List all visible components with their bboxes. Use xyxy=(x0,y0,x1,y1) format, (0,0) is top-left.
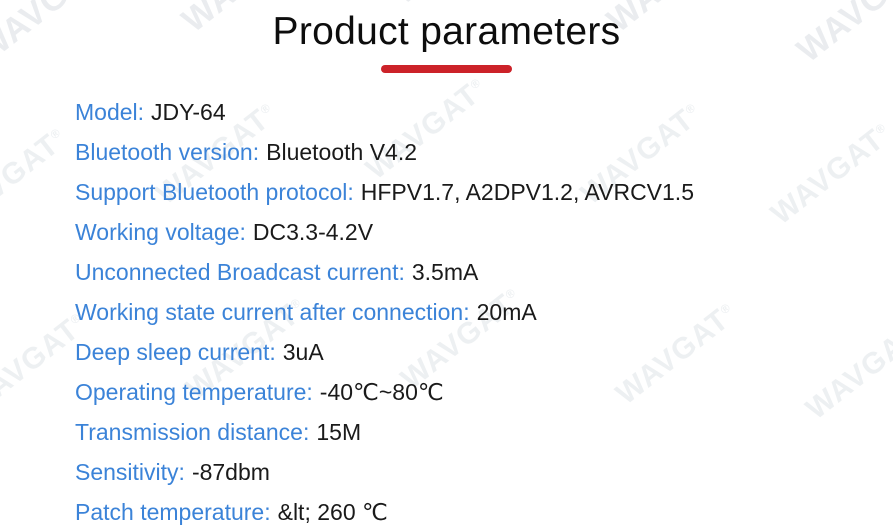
spec-row: Unconnected Broadcast current:3.5mA xyxy=(75,252,893,292)
page-header: Product parameters xyxy=(0,0,893,73)
spec-row: Transmission distance:15M xyxy=(75,412,893,452)
spec-row: Bluetooth version:Bluetooth V4.2 xyxy=(75,132,893,172)
spec-label: Model: xyxy=(75,99,144,125)
spec-value: 3uA xyxy=(283,339,324,365)
spec-value: JDY-64 xyxy=(151,99,226,125)
spec-label: Sensitivity: xyxy=(75,459,185,485)
spec-label: Working voltage: xyxy=(75,219,246,245)
spec-label: Support Bluetooth protocol: xyxy=(75,179,354,205)
spec-value: &lt; 260 ℃ xyxy=(278,499,388,525)
title-underline-accent xyxy=(381,65,512,73)
spec-label: Operating temperature: xyxy=(75,379,313,405)
spec-label: Unconnected Broadcast current: xyxy=(75,259,405,285)
specification-list: Model:JDY-64 Bluetooth version:Bluetooth… xyxy=(0,73,893,532)
spec-row: Operating temperature:-40℃~80℃ xyxy=(75,372,893,412)
spec-label: Transmission distance: xyxy=(75,419,309,445)
spec-value: 15M xyxy=(316,419,361,445)
spec-row: Sensitivity:-87dbm xyxy=(75,452,893,492)
spec-row: Working state current after connection:2… xyxy=(75,292,893,332)
spec-value: 3.5mA xyxy=(412,259,478,285)
spec-row: Model:JDY-64 xyxy=(75,92,893,132)
spec-value: DC3.3-4.2V xyxy=(253,219,373,245)
spec-label: Working state current after connection: xyxy=(75,299,470,325)
spec-value: 20mA xyxy=(477,299,537,325)
spec-label: Bluetooth version: xyxy=(75,139,259,165)
spec-row: Support Bluetooth protocol:HFPV1.7, A2DP… xyxy=(75,172,893,212)
spec-value: -87dbm xyxy=(192,459,270,485)
spec-row: Working voltage:DC3.3-4.2V xyxy=(75,212,893,252)
spec-value: -40℃~80℃ xyxy=(320,379,444,405)
spec-value: Bluetooth V4.2 xyxy=(266,139,417,165)
spec-row: Deep sleep current:3uA xyxy=(75,332,893,372)
spec-label: Deep sleep current: xyxy=(75,339,276,365)
page-title: Product parameters xyxy=(0,10,893,55)
spec-label: Patch temperature: xyxy=(75,499,271,525)
product-parameters-page: WAVGAT® WAVGAT® WAVGAT® WAVGAT® WAVGAT® … xyxy=(0,0,893,532)
spec-value: HFPV1.7, A2DPV1.2, AVRCV1.5 xyxy=(361,179,694,205)
spec-row: Patch temperature:&lt; 260 ℃ xyxy=(75,492,893,532)
